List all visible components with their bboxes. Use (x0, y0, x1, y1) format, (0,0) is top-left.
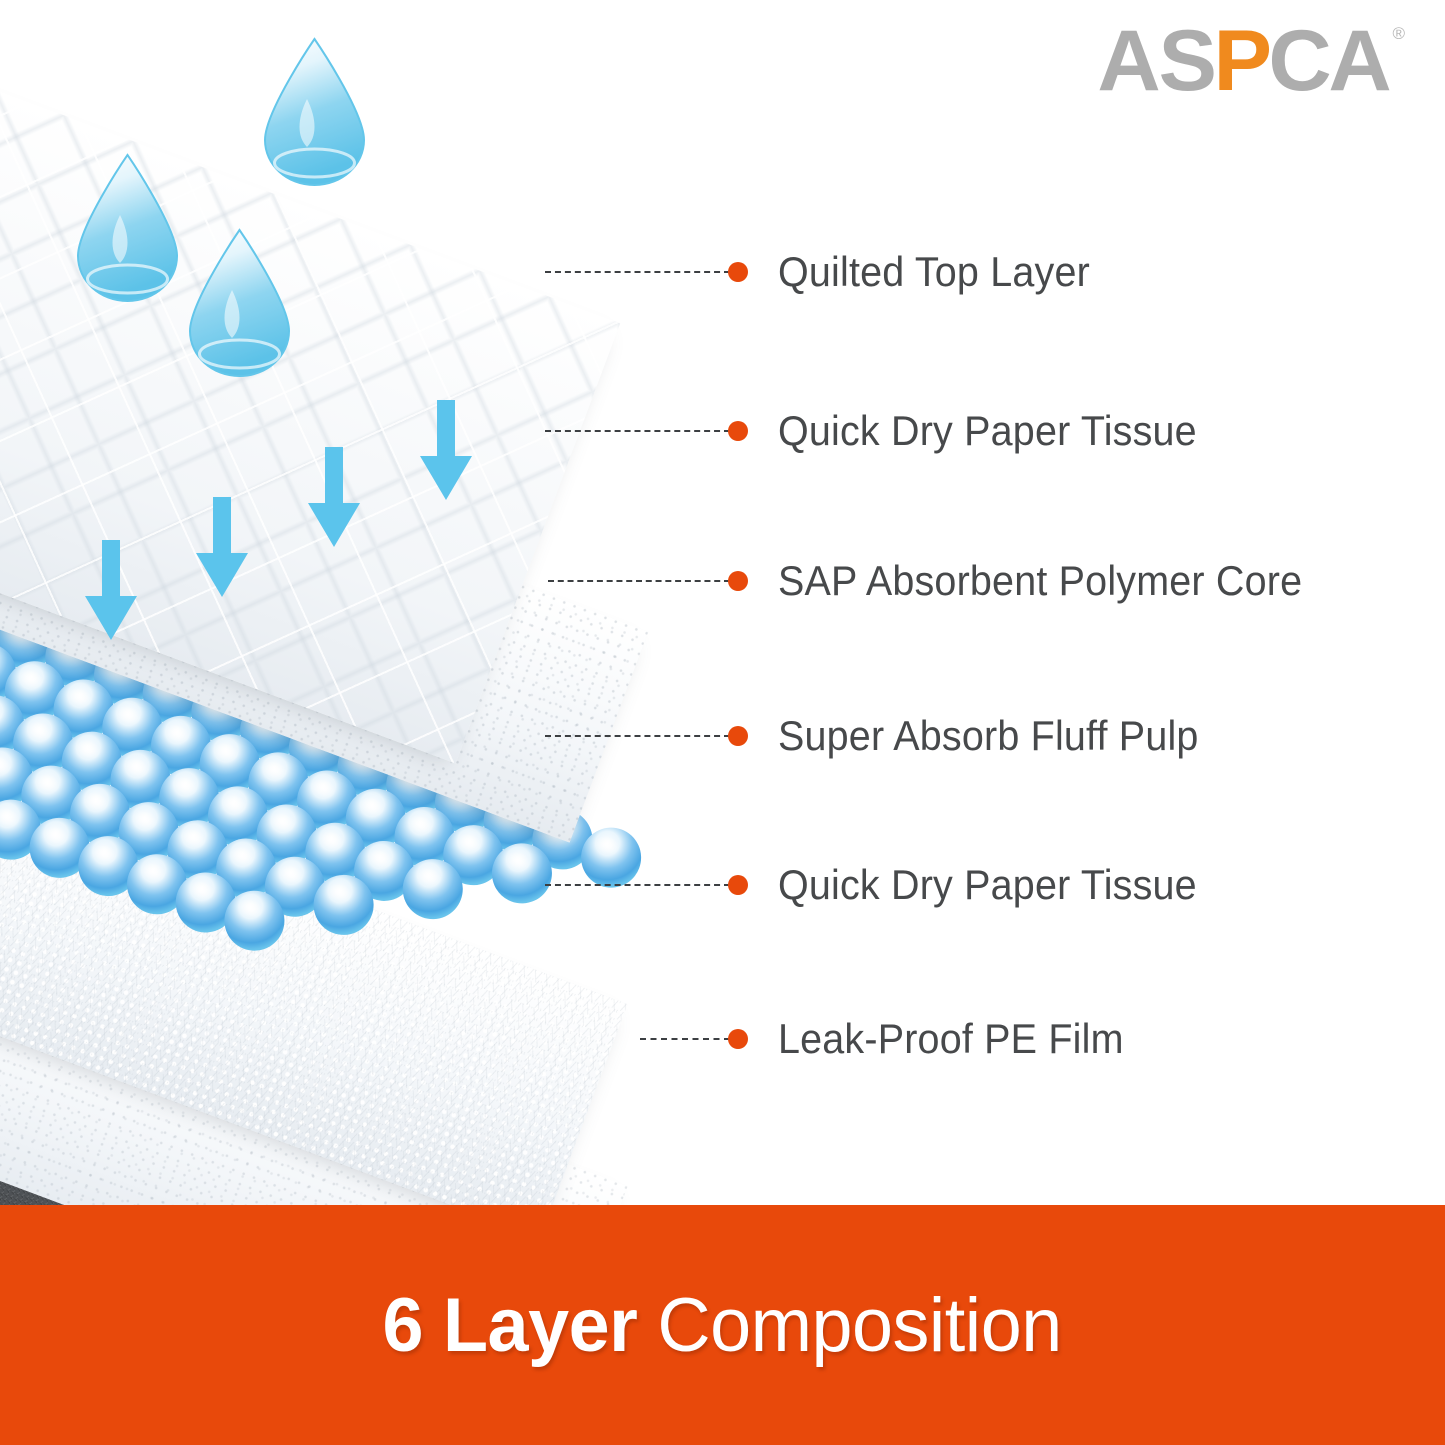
callout-leak-proof-pe-film: Leak-Proof PE Film (0, 1011, 1445, 1067)
callout-dot-icon (728, 421, 748, 441)
callout-quilted-top-layer: Quilted Top Layer (0, 244, 1445, 300)
callout-super-absorb-fluff-pulp: Super Absorb Fluff Pulp (0, 708, 1445, 764)
callout-list: Quilted Top Layer Quick Dry Paper Tissue… (0, 0, 1445, 1205)
callout-leader-line (548, 580, 730, 582)
callout-dot-icon (728, 571, 748, 591)
callout-leader-line (545, 735, 730, 737)
banner-title-bold: 6 Layer (383, 1283, 638, 1368)
callout-leader-line (640, 1038, 730, 1040)
callout-dot-icon (728, 262, 748, 282)
callout-label: Quilted Top Layer (778, 244, 1090, 300)
callout-label: SAP Absorbent Polymer Core (778, 553, 1302, 609)
callout-quick-dry-paper-tissue-top: Quick Dry Paper Tissue (0, 403, 1445, 459)
callout-quick-dry-paper-tissue-bottom: Quick Dry Paper Tissue (0, 857, 1445, 913)
callout-label: Super Absorb Fluff Pulp (778, 708, 1199, 764)
callout-dot-icon (728, 726, 748, 746)
callout-leader-line (545, 271, 730, 273)
callout-sap-absorbent-polymer-core: SAP Absorbent Polymer Core (0, 553, 1445, 609)
callout-dot-icon (728, 875, 748, 895)
composition-banner: 6 Layer Composition (0, 1205, 1445, 1445)
callout-leader-line (545, 884, 730, 886)
callout-dot-icon (728, 1029, 748, 1049)
callout-label: Leak-Proof PE Film (778, 1011, 1124, 1067)
callout-label: Quick Dry Paper Tissue (778, 857, 1197, 913)
infographic-canvas: A S P C A ® (0, 0, 1445, 1445)
callout-leader-line (545, 430, 730, 432)
banner-title: 6 Layer Composition (383, 1282, 1062, 1369)
callout-label: Quick Dry Paper Tissue (778, 403, 1197, 459)
banner-title-regular: Composition (658, 1283, 1062, 1368)
